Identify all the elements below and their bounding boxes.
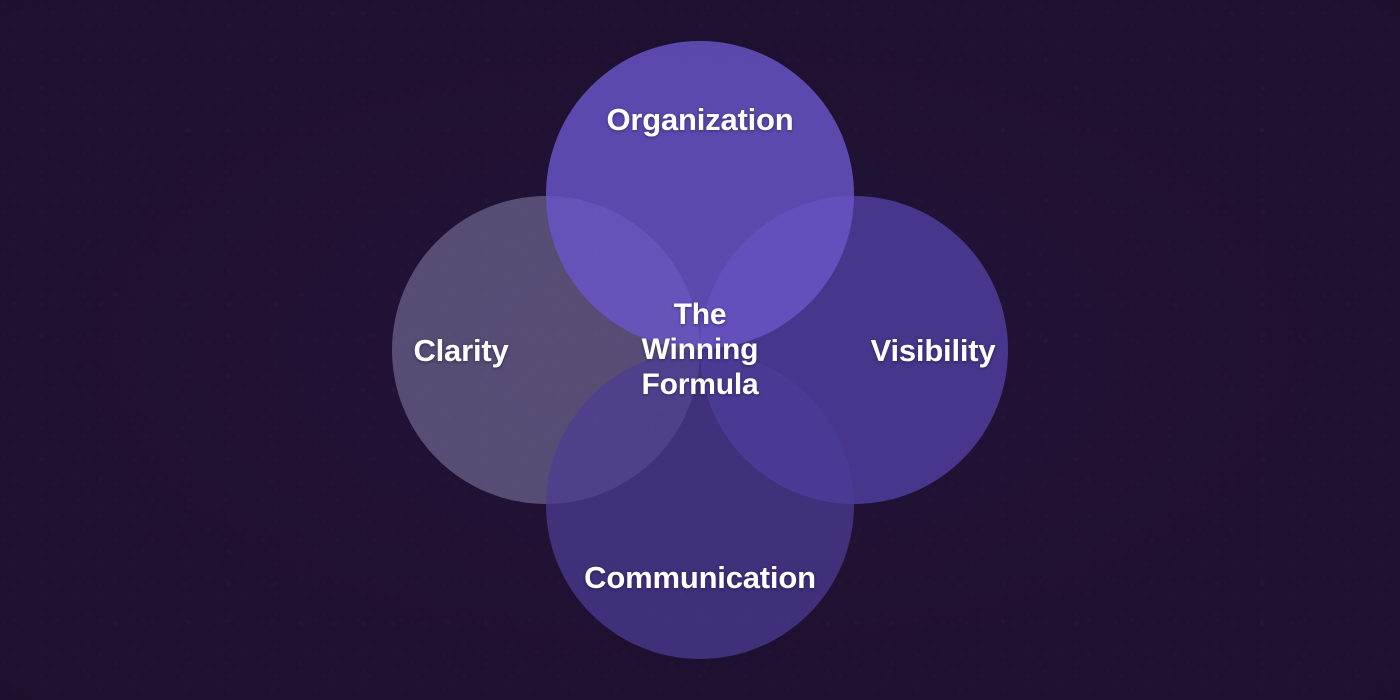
- venn-diagram-canvas: Organization Clarity Visibility Communic…: [0, 0, 1400, 700]
- venn-center-label-line-3: Formula: [642, 367, 759, 402]
- venn-center-label: The Winning Formula: [642, 297, 759, 402]
- venn-label-clarity: Clarity: [413, 334, 508, 368]
- venn-label-communication: Communication: [584, 561, 816, 595]
- venn-center-label-line-1: The: [642, 297, 759, 332]
- venn-center-label-line-2: Winning: [642, 332, 759, 367]
- venn-label-organization: Organization: [606, 103, 793, 137]
- venn-label-visibility: Visibility: [871, 334, 996, 368]
